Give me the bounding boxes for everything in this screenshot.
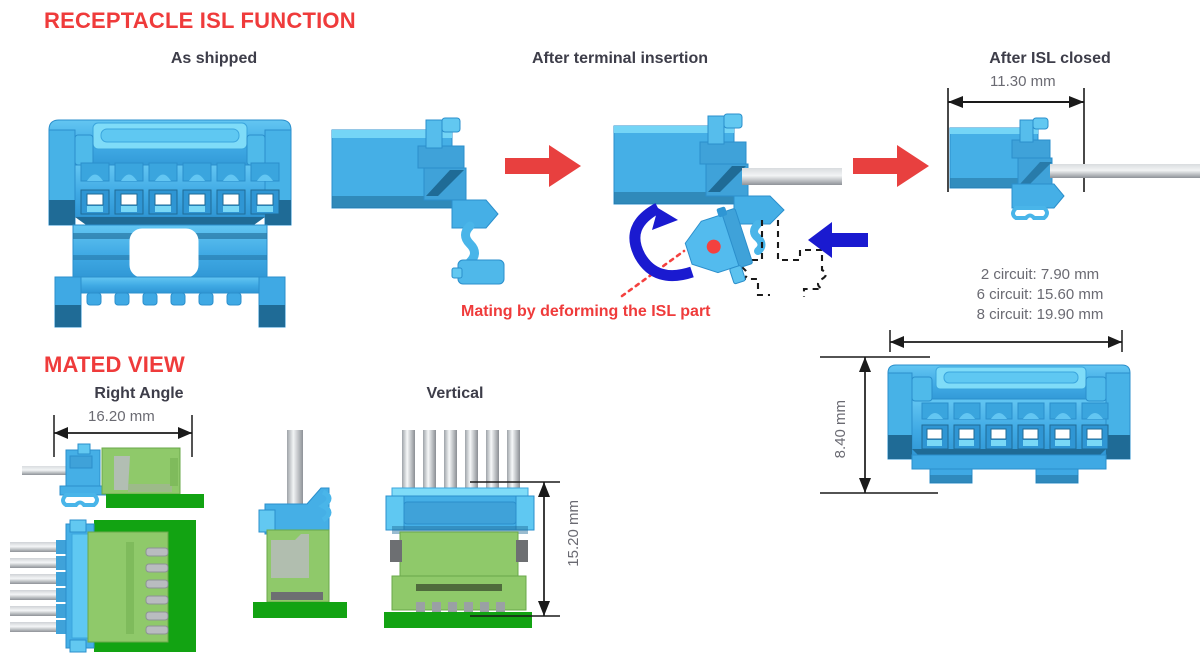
circuit-dimension-2: 2 circuit: 7.90 mm (940, 265, 1140, 285)
panel-title-vertical: Vertical (360, 385, 550, 403)
panel-title-right-angle: Right Angle (44, 385, 234, 403)
circuit-dimension-6: 6 circuit: 15.60 mm (940, 285, 1140, 305)
callout-mating-deform: Mating by deforming the ISL part (461, 303, 711, 321)
circuit-dimension-list: 2 circuit: 7.90 mm 6 circuit: 15.60 mm 8… (940, 265, 1140, 325)
step-arrow-1-icon (505, 145, 581, 187)
mated-right-angle-front-view (8, 520, 208, 652)
connector-as-shipped-front-view (45, 105, 295, 330)
mated-vertical-side-view (245, 430, 355, 630)
connector-side-view-rotating-isl (612, 108, 842, 303)
panel-title-after-terminal-insertion: After terminal insertion (460, 50, 780, 68)
section-title-mated: MATED VIEW (44, 352, 185, 378)
circuit-dimension-8: 8 circuit: 19.90 mm (940, 305, 1140, 325)
mated-right-angle-side-view (22, 442, 222, 512)
section-title-receptacle: RECEPTACLE ISL FUNCTION (44, 8, 356, 34)
connector-front-view-dimensioned (886, 355, 1132, 495)
panel-title-as-shipped: As shipped (44, 50, 384, 68)
dimension-line-15-20 (470, 480, 580, 620)
step-arrow-2-icon (853, 145, 929, 187)
connector-side-view-open-isl (330, 108, 510, 288)
panel-title-after-isl-closed: After ISL closed (930, 50, 1170, 68)
connector-side-view-closed-isl (950, 118, 1200, 218)
